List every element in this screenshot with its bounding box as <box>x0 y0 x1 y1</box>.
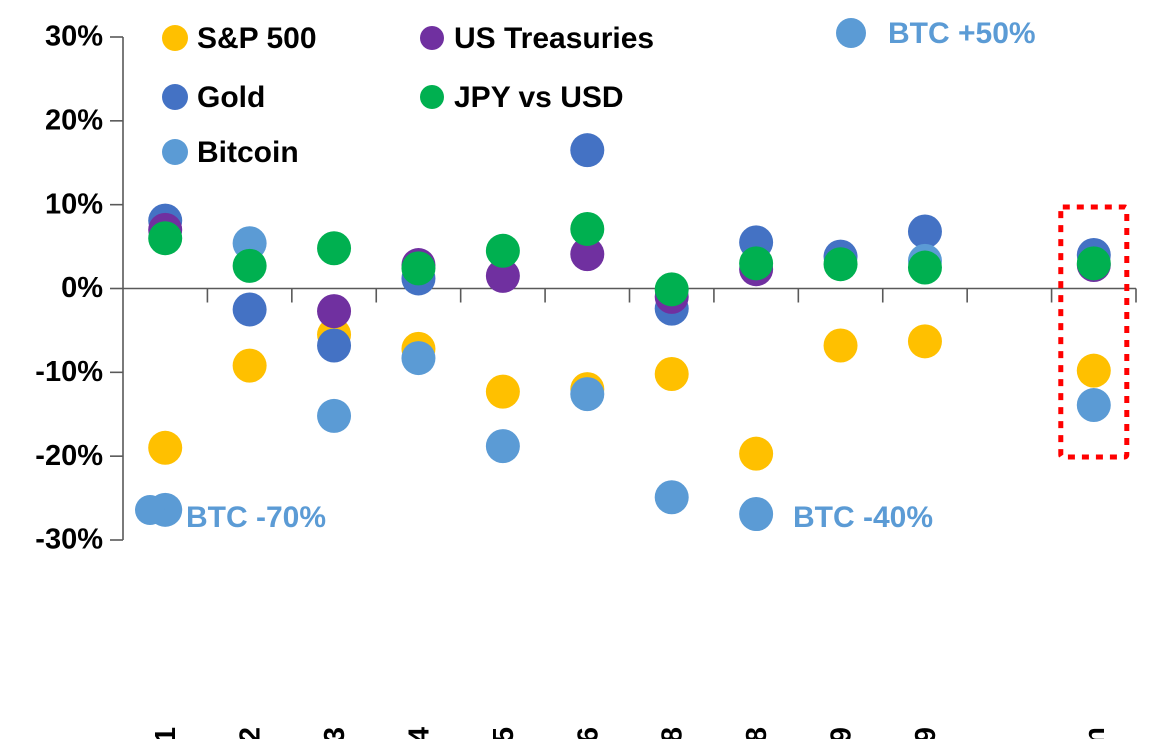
data-point-s-p-500 <box>148 431 182 465</box>
legend-marker-us-treasuries <box>420 26 444 50</box>
data-point-s-p-500 <box>486 375 520 409</box>
data-point-s-p-500 <box>1077 354 1111 388</box>
y-tick-label: 20% <box>45 104 103 136</box>
y-axis: 30%20%10%0%-10%-20%-30% <box>35 21 123 556</box>
data-point-us-treasuries <box>317 294 351 328</box>
data-point-jpy-vs-usd <box>824 247 858 281</box>
data-point-jpy-vs-usd <box>655 272 689 306</box>
data-point-s-p-500 <box>824 329 858 363</box>
data-point-jpy-vs-usd <box>317 231 351 265</box>
scatter-chart: 30%20%10%0%-10%-20%-30% S&P 500GoldBitco… <box>0 0 1151 739</box>
x-tick-label: May-19 <box>826 727 858 739</box>
x-tick-label: May-12 <box>235 727 267 739</box>
y-tick-label: -20% <box>35 440 103 472</box>
data-point-gold <box>317 329 351 363</box>
legend-label-gold: Gold <box>197 81 265 114</box>
data-point-jpy-vs-usd <box>486 234 520 268</box>
data-point-jpy-vs-usd <box>148 221 182 255</box>
data-point-bitcoin <box>1077 388 1111 422</box>
x-tick-label: Aug-19 <box>910 727 942 739</box>
x-tick-label: Aug/Sep-11 <box>150 727 182 739</box>
annotation-label-btc-up: BTC +50% <box>888 17 1036 50</box>
x-tick-label: Jun-13 <box>319 727 351 739</box>
annotation-marker-bitcoin <box>836 18 866 48</box>
x-tick-label: Feb-18 <box>657 727 689 739</box>
legend-label-jpy-vs-usd: JPY vs USD <box>454 81 624 114</box>
data-point-jpy-vs-usd <box>233 249 267 283</box>
legend-marker-jpy-vs-usd <box>420 85 444 109</box>
y-tick-label: 10% <box>45 188 103 220</box>
x-tick-label: Oct-14 <box>403 727 435 739</box>
legend-marker-gold <box>162 84 188 110</box>
x-tick-label: Aug-15 <box>488 727 520 739</box>
x-axis <box>123 289 1136 303</box>
data-point-s-p-500 <box>233 349 267 383</box>
y-tick-label: -30% <box>35 524 103 556</box>
data-point-jpy-vs-usd <box>739 246 773 280</box>
data-point-bitcoin <box>317 399 351 433</box>
chart-canvas: 30%20%10%0%-10%-20%-30% S&P 500GoldBitco… <box>0 0 1151 739</box>
y-tick-label: -10% <box>35 356 103 388</box>
y-tick-label: 30% <box>45 21 103 53</box>
data-point-jpy-vs-usd <box>570 212 604 246</box>
legend-label-us-treasuries: US Treasuries <box>454 22 654 55</box>
data-point-gold <box>908 214 942 248</box>
x-tick-label: Median <box>1079 727 1111 739</box>
data-point-jpy-vs-usd <box>401 251 435 285</box>
data-point-gold <box>570 133 604 167</box>
x-tick-labels: Aug/Sep-11May-12Jun-13Oct-14Aug-15Jan-16… <box>150 727 1111 739</box>
x-tick-label: Oct/Dec-18 <box>741 727 773 739</box>
legend-marker-bitcoin <box>162 139 188 165</box>
data-point-bitcoin <box>401 341 435 375</box>
data-point-jpy-vs-usd <box>1077 246 1111 280</box>
data-point-bitcoin <box>570 377 604 411</box>
annotation-marker-bitcoin <box>742 501 772 531</box>
data-point-s-p-500 <box>739 437 773 471</box>
data-point-s-p-500 <box>908 324 942 358</box>
data-point-bitcoin <box>486 429 520 463</box>
annotation-label-btc-down-70: BTC -70% <box>186 501 326 534</box>
legend-marker-s-p-500 <box>162 25 188 51</box>
annotation-label-btc-down-40: BTC -40% <box>793 501 933 534</box>
y-tick-label: 0% <box>61 272 103 304</box>
data-points <box>148 133 1111 531</box>
x-tick-label: Jan-16 <box>572 727 604 739</box>
annotation-marker-bitcoin <box>135 495 165 525</box>
data-point-gold <box>233 292 267 326</box>
legend-label-s-p-500: S&P 500 <box>197 22 317 55</box>
legend-label-bitcoin: Bitcoin <box>197 136 299 169</box>
data-point-s-p-500 <box>655 357 689 391</box>
data-point-jpy-vs-usd <box>908 251 942 285</box>
data-point-bitcoin <box>655 480 689 514</box>
